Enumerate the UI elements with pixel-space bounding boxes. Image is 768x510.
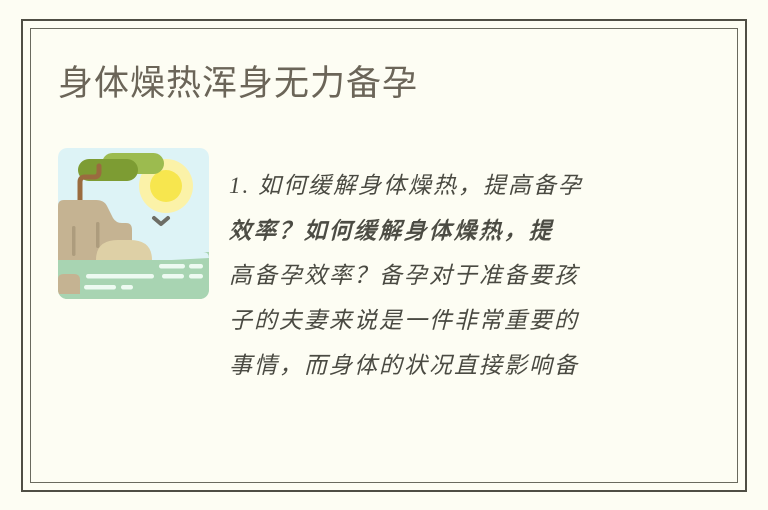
page-title: 身体燥热浑身无力备孕 <box>58 62 418 106</box>
body-line-2-overlap: 效率？如何缓解身体燥热，提 效率？如何缓解身体燥热，提 <box>229 208 659 253</box>
article-card: 身体燥热浑身无力备孕 <box>0 0 768 510</box>
article-body: 1. 如何缓解身体燥热，提高备孕 效率？如何缓解身体燥热，提 效率？如何缓解身体… <box>229 163 659 388</box>
body-line-2-layer-b: 效率？如何缓解身体燥热，提 <box>228 209 553 254</box>
cliff-tree-sun-sea-illustration <box>58 148 209 299</box>
body-line-3: 高备孕效率？备孕对于准备要孩 <box>229 253 659 298</box>
body-line-1: 1. 如何缓解身体燥热，提高备孕 <box>229 163 659 208</box>
body-line-4: 子的夫妻来说是一件非常重要的 <box>229 298 659 343</box>
body-line-5: 事情，而身体的状况直接影响备 <box>229 343 659 388</box>
